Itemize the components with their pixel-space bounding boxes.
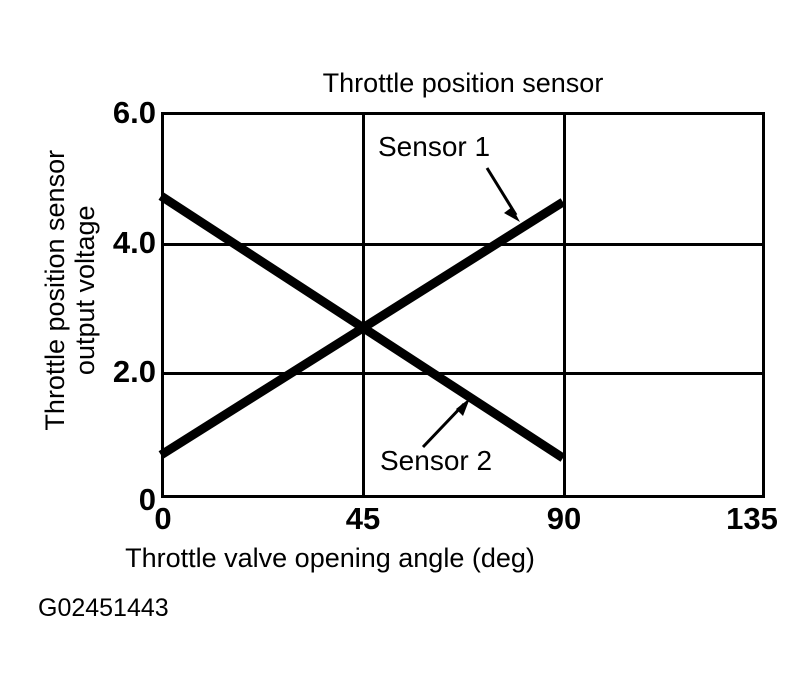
- y-tick-4: 4.0: [113, 227, 156, 258]
- y-tick-6: 6.0: [113, 97, 156, 128]
- annotation-label-sensor-1: Sensor 1: [378, 133, 490, 161]
- x-tick-90: 90: [547, 503, 581, 534]
- x-tick-45: 45: [346, 503, 380, 534]
- x-tick-135: 135: [726, 503, 778, 534]
- x-axis-ticks: 0 45 90 135: [0, 503, 808, 543]
- gridline-x-45: [362, 115, 365, 495]
- y-axis-title-line-2: output voltage: [70, 80, 100, 500]
- y-tick-2: 2.0: [113, 356, 156, 387]
- y-axis-title: Throttle position sensor output voltage: [40, 80, 100, 500]
- gridline-x-90: [563, 115, 566, 495]
- chart-title: Throttle position sensor: [161, 70, 765, 97]
- x-tick-0: 0: [154, 503, 171, 534]
- throttle-position-sensor-figure: Throttle position sensor 6.0 4.0 2.0 0 0: [0, 0, 808, 698]
- y-axis-title-line-1: Throttle position sensor: [40, 80, 70, 500]
- figure-id-caption: G02451443: [38, 596, 169, 621]
- annotation-label-sensor-2: Sensor 2: [380, 447, 492, 475]
- gridline-y-4: [164, 243, 762, 246]
- plot-area: [161, 112, 765, 498]
- x-axis-title: Throttle valve opening angle (deg): [60, 545, 600, 572]
- gridline-y-2: [164, 372, 762, 375]
